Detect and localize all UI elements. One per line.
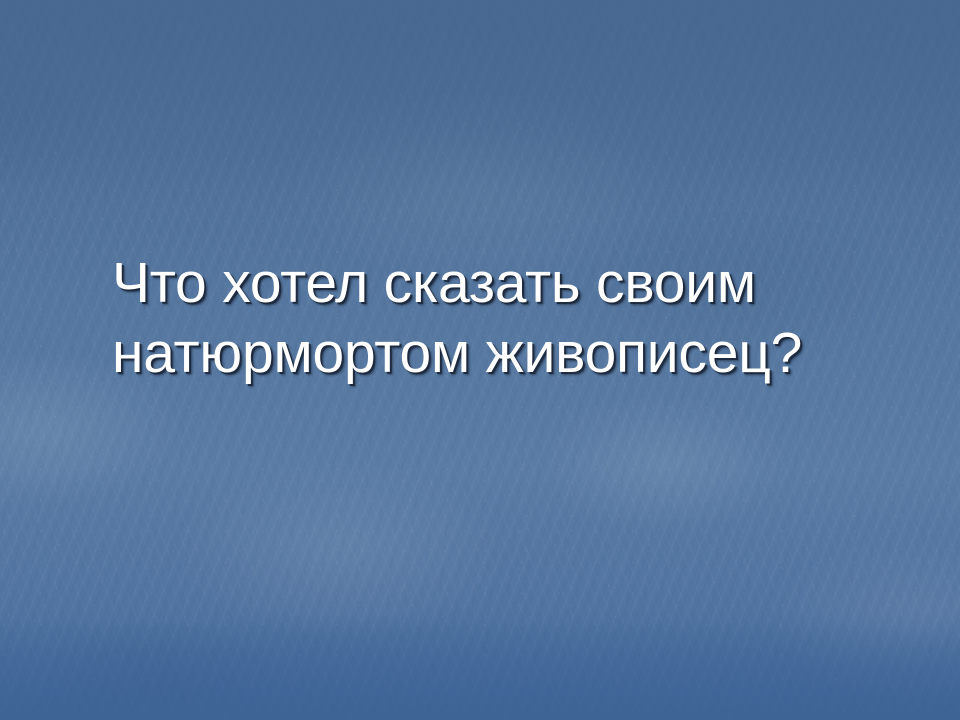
slide-background-bottom-fade (0, 610, 960, 720)
presentation-slide: Что хотел сказать своим натюрмортом живо… (0, 0, 960, 720)
slide-background-top-fade (0, 0, 960, 210)
slide-title-line-2: натюрмортом живописец? (112, 318, 872, 388)
slide-title-line-1: Что хотел сказать своим (112, 248, 872, 318)
slide-title: Что хотел сказать своим натюрмортом живо… (112, 248, 872, 388)
